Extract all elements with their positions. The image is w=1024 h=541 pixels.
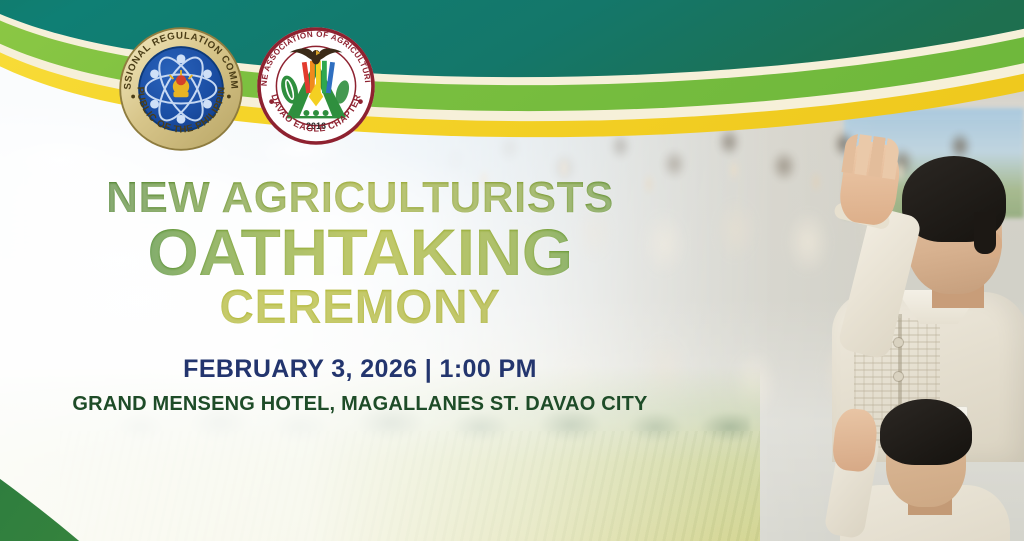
barong-button: [894, 338, 903, 347]
crop-furrows: [60, 431, 760, 541]
headline-line-2: OATHTAKING: [0, 219, 720, 285]
hair: [880, 399, 972, 465]
event-banner: PROFESSIONAL REGULATION COMMISSION REPUB…: [0, 0, 1024, 541]
fingers: [841, 132, 900, 179]
paa-seal-logo: 2016 PHILIPPINE ASSOCIATION OF AGRICULTU…: [256, 26, 376, 146]
event-text-block: NEW AGRICULTURISTS OATHTAKING CEREMONY F…: [0, 176, 720, 416]
event-date-time: FEBRUARY 3, 2026 | 1:00 PM: [0, 355, 720, 384]
event-venue: GRAND MENSENG HOTEL, MAGALLANES ST. DAVA…: [0, 393, 720, 416]
sideburn: [974, 212, 996, 254]
oath-taker-secondary-photo: [784, 399, 1004, 541]
prc-seal-logo: PROFESSIONAL REGULATION COMMISSION REPUB…: [118, 26, 244, 152]
logo-group: PROFESSIONAL REGULATION COMMISSION REPUB…: [118, 26, 376, 152]
headline-line-3: CEREMONY: [0, 283, 720, 333]
ceiling-lights-icon: [434, 18, 1014, 88]
barong-button: [894, 372, 903, 381]
